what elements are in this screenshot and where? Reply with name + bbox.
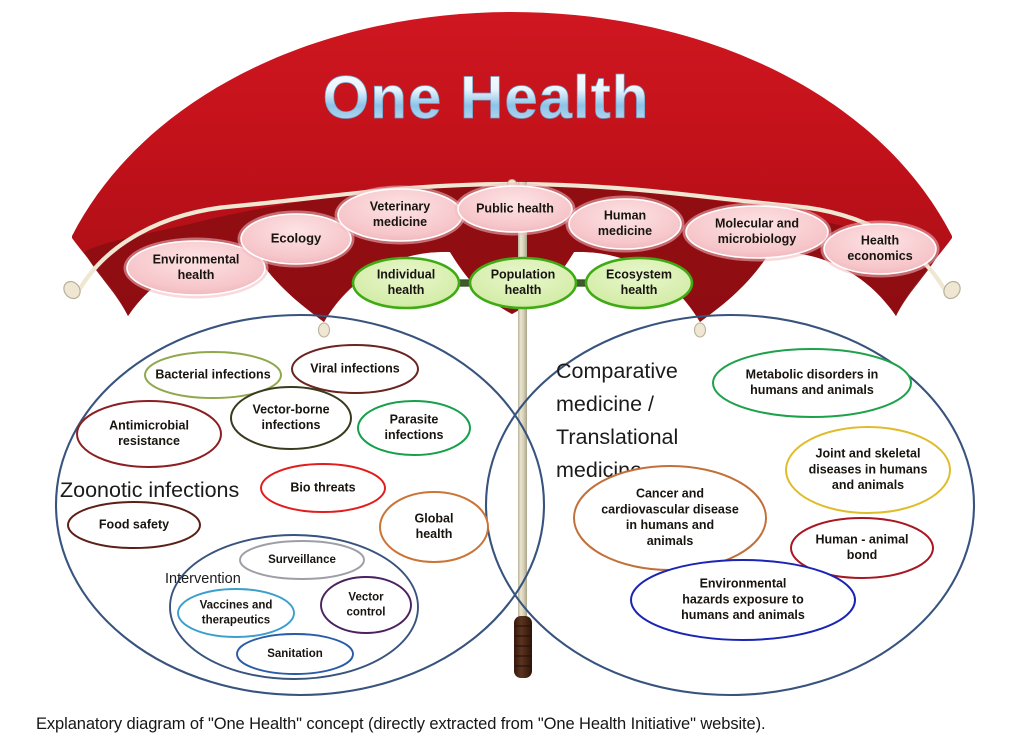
bubble-label-line-1: Vector-borne [252,402,329,416]
intervention-item-vaccines-and-therapeutics[interactable]: Vaccines andtherapeutics [178,589,294,637]
bubble-label-line-1: Sanitation [267,648,323,660]
discipline-health-economics[interactable]: Healtheconomics [821,221,940,278]
health-level-individual-health[interactable]: Individualhealth [353,258,459,308]
left-topic-bubbles: Bacterial infectionsViral infectionsVect… [68,345,488,562]
bubble-label-line-2: diseases in humans [809,462,928,476]
bubble-label-line-1: Global [415,511,454,525]
topic-environmental-hazards-exposure-to-humans-and-animals[interactable]: Environmentalhazards exposure tohumans a… [631,560,855,640]
bubble-label-line-1: Bio threats [290,480,355,494]
venn-right-label: Comparative medicine / Translational med… [556,359,678,482]
bubble-label-line-1: Human [604,208,646,222]
topic-joint-and-skeletal-diseases-in-humans-and-animals[interactable]: Joint and skeletaldiseases in humansand … [786,427,950,513]
diagram-canvas: One Health Zoonotic infections [0,0,1024,700]
topic-global-health[interactable]: Globalhealth [380,492,488,562]
bubble-label-line-1: Public health [476,201,554,215]
bubble-label-line-1: Vector [348,592,384,604]
bubble-label-line-1: Molecular and [715,216,799,230]
figure-caption: Explanatory diagram of "One Health" conc… [0,700,1024,748]
discipline-molecular-and-microbiology[interactable]: Molecular andmicrobiology [683,203,832,262]
bubble-label-line-1: Bacterial infections [155,367,270,381]
diagram-title: One Health [323,64,650,131]
bubble-label-line-2: microbiology [718,232,797,246]
bubble-label-line-2: humans and animals [750,383,874,397]
bubble-label-line-1: Metabolic disorders in [746,367,879,381]
venn-right-label-line-3: Translational [556,425,678,449]
venn-left-label: Zoonotic infections [60,478,239,502]
topic-cancer-and-cardiovascular-disease-in-humans-and-animals[interactable]: Cancer andcardiovascular diseasein human… [574,466,766,570]
health-level-bubbles: IndividualhealthPopulationhealthEcosyste… [353,258,692,308]
venn-right-label-line-1: Comparative [556,359,678,383]
bubble-label-line-2: health [505,283,542,297]
discipline-veterinary-medicine[interactable]: Veterinarymedicine [335,186,466,245]
intervention-label: Intervention [165,571,241,587]
bubble-label-line-1: Environmental [700,577,787,591]
bubble-label-line-2: health [416,527,453,541]
venn-right-label-line-2: medicine / [556,392,654,416]
bubble-label-line-2: control [347,606,386,618]
bubble-label-line-1: Ecosystem [606,267,672,281]
bubble-label-line-2: health [388,283,425,297]
bubble-label-line-2: medicine [598,224,652,238]
health-level-population-health[interactable]: Populationhealth [470,258,576,308]
topic-metabolic-disorders-in-humans-and-animals[interactable]: Metabolic disorders inhumans and animals [713,349,911,417]
topic-bio-threats[interactable]: Bio threats [261,464,385,512]
bubble-label-line-1: Cancer and [636,487,704,501]
bubble-label-line-1: Antimicrobial [109,418,189,432]
topic-antimicrobial-resistance[interactable]: Antimicrobialresistance [77,401,221,467]
topic-vector-borne-infections[interactable]: Vector-borneinfections [231,387,351,449]
intervention-item-vector-control[interactable]: Vectorcontrol [321,577,411,633]
topic-parasite-infections[interactable]: Parasiteinfections [358,401,470,455]
bubble-label-line-2: infections [384,428,443,442]
discipline-human-medicine[interactable]: Humanmedicine [566,196,685,253]
bubble-label-line-3: and animals [832,478,904,492]
bubble-label-line-1: Viral infections [310,361,399,375]
bubble-outline [178,589,294,637]
bubble-label-line-2: resistance [118,434,180,448]
intervention-item-sanitation[interactable]: Sanitation [237,634,353,674]
bubble-label-line-2: hazards exposure to [682,592,804,606]
bubble-label-line-1: Individual [377,267,435,281]
intervention-item-surveillance[interactable]: Surveillance [240,541,364,579]
bubble-label-line-2: infections [261,418,320,432]
bubble-label-line-3: in humans and [626,518,714,532]
one-health-diagram: One Health Zoonotic infections [0,0,1024,700]
topic-food-safety[interactable]: Food safety [68,502,200,548]
health-level-ecosystem-health[interactable]: Ecosystemhealth [586,258,692,308]
bubble-label-line-1: Health [861,233,899,247]
bubble-label-line-2: health [621,283,658,297]
bubble-label-line-1: Joint and skeletal [816,447,921,461]
bubble-label-line-1: Human - animal [815,532,908,546]
bubble-label-line-2: cardiovascular disease [601,502,739,516]
bubble-label-line-4: animals [647,534,694,548]
bubble-label-line-2: health [178,268,215,282]
bubble-label-line-2: bond [847,548,878,562]
bubble-label-line-1: Surveillance [268,554,336,566]
bubble-label-line-1: Environmental [153,252,240,266]
bubble-label-line-1: Parasite [390,412,439,426]
bubble-outline [321,577,411,633]
bubble-label-line-3: humans and animals [681,608,805,622]
bubble-label-line-2: therapeutics [202,614,270,626]
bubble-label-line-1: Vaccines and [200,600,273,612]
bubble-label-line-1: Ecology [271,230,322,245]
screenshot-root: One Health Zoonotic infections [0,0,1024,748]
intervention-bubbles: SurveillanceVaccines andtherapeuticsVect… [178,541,411,674]
discipline-public-health[interactable]: Public health [455,183,576,236]
bubble-label-line-2: economics [847,249,912,263]
bubble-label-line-1: Food safety [99,517,169,531]
topic-viral-infections[interactable]: Viral infections [292,345,418,393]
bubble-label-line-1: Population [491,267,556,281]
bubble-label-line-1: Veterinary [370,199,431,213]
bubble-label-line-2: medicine [373,215,427,229]
